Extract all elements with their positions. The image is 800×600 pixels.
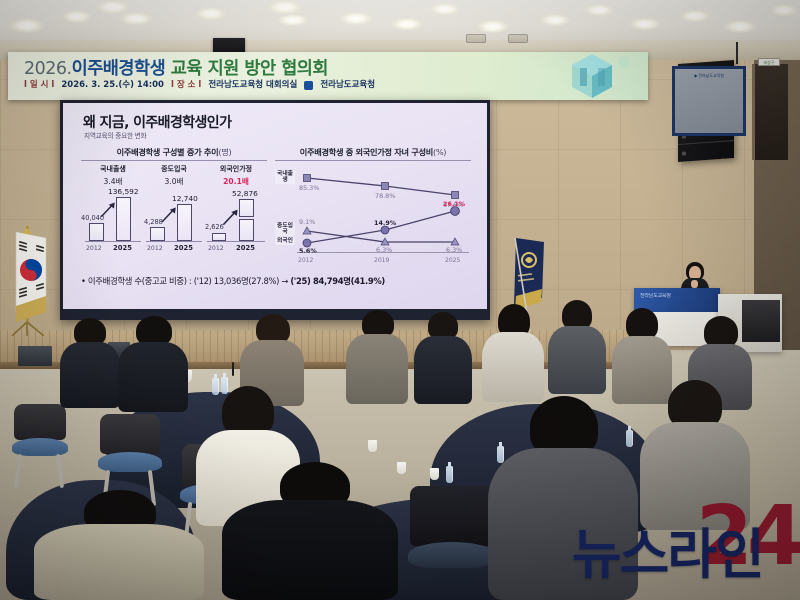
- bar-xlabel-2025: 2025: [174, 244, 193, 252]
- audience-member: [640, 380, 750, 530]
- wall-board: ◆ 전라남도교육청: [672, 66, 746, 136]
- bar-group-foreign-family: 외국인가정 20.1배 2,626 52,876 2012 2025: [205, 164, 267, 264]
- bar-group-plot: 40,040 136,592 2012 2025: [83, 190, 143, 252]
- line-value-midway-2012: 9.1%: [299, 218, 315, 226]
- line-chart-panel: 이주배경학생 중 외국인가정 자녀 구성비(%): [275, 146, 471, 268]
- ceiling-light: [196, 7, 226, 20]
- body: [34, 524, 204, 600]
- ceiling-light: [278, 14, 308, 26]
- slide-bullet-highlight: ('25) 84,794명(41.9%): [290, 276, 385, 286]
- audience-member: [482, 304, 544, 402]
- ceiling-light: [430, 3, 460, 15]
- bar-2025: [177, 204, 192, 241]
- banner-place-value: 전라남도교육청 대회의실: [208, 78, 297, 90]
- microphone[interactable]: [232, 362, 234, 376]
- bar-2012: [89, 223, 104, 241]
- body: [346, 334, 408, 404]
- bar-group-multiplier: 20.1배: [205, 176, 267, 187]
- bar-2025-upper: [239, 199, 254, 217]
- ceiling-light: [120, 12, 152, 25]
- bar-xlabel-2012: 2012: [147, 245, 163, 252]
- chair-leg: [56, 454, 64, 488]
- ceiling-light: [584, 4, 614, 16]
- chair-back: [100, 414, 160, 454]
- line-value-foreign-2025: 26.1%: [443, 200, 465, 208]
- body: [482, 332, 544, 402]
- chair-seat: [98, 452, 162, 472]
- slide-bullet: • 이주배경학생 수(중고교 비중) : ('12) 13,036명(27.8%…: [81, 275, 473, 287]
- bar-2025-lower: [239, 219, 254, 241]
- slide-title: 왜 지금, 이주배경학생인가: [83, 112, 231, 132]
- bar-baseline: [85, 241, 141, 242]
- line-value-domestic-2012: 85.3%: [299, 184, 319, 192]
- ceiling-light: [680, 10, 710, 22]
- banner-org: 전라남도교육청: [320, 78, 375, 90]
- chair-back: [410, 486, 494, 546]
- body: [548, 326, 606, 394]
- line-value-domestic-2019: 78.8%: [375, 192, 395, 200]
- speaker-suspension-wire: [736, 42, 738, 64]
- bar-group-plot: 2,626 52,876 2012 2025: [205, 190, 267, 252]
- bar-2012: [212, 233, 226, 241]
- line-chart-axis: [297, 252, 469, 253]
- bar-xlabel-2025: 2025: [236, 244, 255, 252]
- bar-chart-unit: (명): [218, 147, 231, 157]
- exit-door: [752, 64, 788, 160]
- bar-chart-panel: 이주배경학생 구성별 증가 추이(명) 국내출생 3.4배 40,040 136…: [81, 146, 267, 268]
- chair-back: [14, 404, 66, 440]
- bar-value-2025: 52,876: [232, 189, 258, 198]
- line-value-foreign-2012: 5.6%: [299, 247, 317, 255]
- bar-group-midway-entry: 중도입국 3.0배 4,288 12,740 2012 2025: [144, 164, 204, 264]
- bar-group-multiplier: 3.4배: [83, 176, 143, 187]
- body: [118, 342, 188, 412]
- body: [640, 422, 750, 530]
- audience-member: [346, 310, 408, 404]
- line-xlabel-2019: 2019: [374, 257, 389, 264]
- line-chart-heading: 이주배경학생 중 외국인가정 자녀 구성비(%): [275, 146, 471, 158]
- line-series-label-domestic: 국내출생: [275, 170, 295, 184]
- bar-group-label: 국내출생: [83, 164, 143, 174]
- slide-bullet-prefix: • 이주배경학생 수(중고교 비중) : ('12) 13,036명(27.8%…: [81, 276, 290, 286]
- growth-arrow-icon: [160, 206, 178, 224]
- slide-subtitle: 지역교육의 중요한 변화: [84, 130, 146, 140]
- banner-year: 2026.: [24, 59, 72, 79]
- body: [488, 448, 638, 600]
- line-series-label-foreign: 외국인: [275, 237, 295, 245]
- ceiling-light: [724, 20, 756, 33]
- bar-group-label: 외국인가정: [205, 164, 267, 174]
- body: [414, 336, 472, 404]
- bar-2012: [150, 227, 165, 241]
- ceiling-light: [770, 4, 798, 16]
- exit-sign: 비상구: [758, 58, 780, 66]
- line-chart-plot: 국내출생 중도입국 외국인 85.3% 78.8% 67.6% 9.1% 6.3…: [275, 164, 471, 264]
- audience-member-foreground: [34, 490, 204, 600]
- banner-cube-graphic: [546, 52, 638, 100]
- ceiling-vent: [508, 34, 528, 43]
- bar-chart-heading: 이주배경학생 구성별 증가 추이(명): [81, 146, 267, 158]
- taegeukgi-flag-icon: [6, 226, 52, 336]
- banner-date-value: 2026. 3. 25.(수) 14:00: [61, 78, 164, 90]
- bar-2025: [116, 197, 131, 241]
- bar-group-domestic-born: 국내출생 3.4배 40,040 136,592 2012 2025: [83, 164, 143, 264]
- line-series-label-midway: 중도입국: [275, 222, 295, 236]
- banner-title-green: 교육 지원 방안 협의회: [165, 59, 328, 79]
- wall-board-logo-icon: ◆ 전라남도교육청: [694, 73, 724, 79]
- banner-place-label: l 장 소 l: [171, 78, 201, 90]
- ceiling-light: [62, 10, 92, 23]
- laptop[interactable]: [18, 346, 52, 366]
- growth-arrow-icon: [221, 208, 240, 227]
- speaker-seam: [678, 140, 734, 145]
- conference-hall-photo: 2026.이주배경학생 교육 지원 방안 협의회 l 일 시 l 2026. 3…: [0, 0, 800, 600]
- presentation-slide: 왜 지금, 이주배경학생인가 지역교육의 중요한 변화 이주배경학생 구성별 증…: [63, 103, 487, 309]
- banner-subtitle: l 일 시 l 2026. 3. 25.(수) 14:00 l 장 소 l 전라…: [24, 78, 375, 90]
- line-chart-rule: [275, 160, 471, 161]
- bar-xlabel-2012: 2012: [208, 245, 224, 252]
- bar-chart-rule: [81, 160, 267, 161]
- ceiling-light: [96, 0, 130, 14]
- bar-group-label: 중도입국: [144, 164, 204, 174]
- ceiling-light: [540, 14, 570, 26]
- chair[interactable]: [404, 486, 500, 600]
- ceiling-light: [630, 18, 660, 30]
- ceiling-light: [478, 20, 508, 33]
- bar-group-plot: 4,288 12,740 2012 2025: [144, 190, 204, 252]
- line-value-foreign-2019: 14.9%: [374, 219, 396, 227]
- ceiling-light: [10, 18, 44, 33]
- banner-title-blue: 이주배경학생: [72, 59, 166, 79]
- body: [60, 342, 120, 408]
- podium-text: 전라남도교육청: [640, 293, 714, 307]
- audience-member: [118, 316, 188, 412]
- banner-title: 2026.이주배경학생 교육 지원 방안 협의회: [24, 55, 328, 80]
- audience-member: [60, 318, 120, 408]
- speaker-indicator: [682, 151, 686, 155]
- audience-member: [548, 300, 606, 394]
- chair[interactable]: [10, 404, 70, 494]
- growth-arrow-icon: [99, 201, 117, 219]
- bar-chart-heading-text: 이주배경학생 구성별 증가 추이: [117, 147, 219, 157]
- bar-group-multiplier: 3.0배: [144, 176, 204, 187]
- bar-value-2025: 12,740: [172, 194, 198, 203]
- body: [222, 500, 398, 600]
- ceiling-light: [268, 0, 302, 14]
- bar-value-2025: 136,592: [108, 187, 139, 196]
- paper-cup[interactable]: [430, 468, 439, 480]
- chair-leg: [14, 454, 22, 488]
- ceiling-light: [340, 12, 372, 25]
- ceiling-vent: [466, 34, 486, 43]
- line-chart-heading-text: 이주배경학생 중 외국인가정 자녀 구성비: [300, 147, 433, 157]
- ceiling-light: [392, 18, 422, 30]
- audience-member-foreground: [488, 396, 638, 600]
- bar-xlabel-2025: 2025: [113, 244, 132, 252]
- korean-national-flag: [6, 226, 52, 336]
- paper-cup[interactable]: [368, 440, 377, 452]
- banner-date-label: l 일 시 l: [24, 78, 54, 90]
- line-chart-unit: (%): [433, 147, 446, 157]
- presenter-hand: [691, 280, 698, 288]
- chair-seat: [408, 542, 496, 568]
- bar-baseline: [146, 241, 202, 242]
- bar-xlabel-2012: 2012: [86, 245, 102, 252]
- bar-baseline: [207, 241, 265, 242]
- education-office-logo-icon: [304, 81, 313, 90]
- event-banner: 2026.이주배경학생 교육 지원 방안 협의회 l 일 시 l 2026. 3…: [8, 52, 648, 100]
- line-xlabel-2025: 2025: [445, 257, 460, 264]
- audience-member-foreground: [222, 462, 398, 600]
- paper-cup[interactable]: [397, 462, 406, 474]
- audience-member: [414, 312, 472, 404]
- water-bottle[interactable]: [446, 466, 453, 483]
- line-xlabel-2012: 2012: [298, 257, 313, 264]
